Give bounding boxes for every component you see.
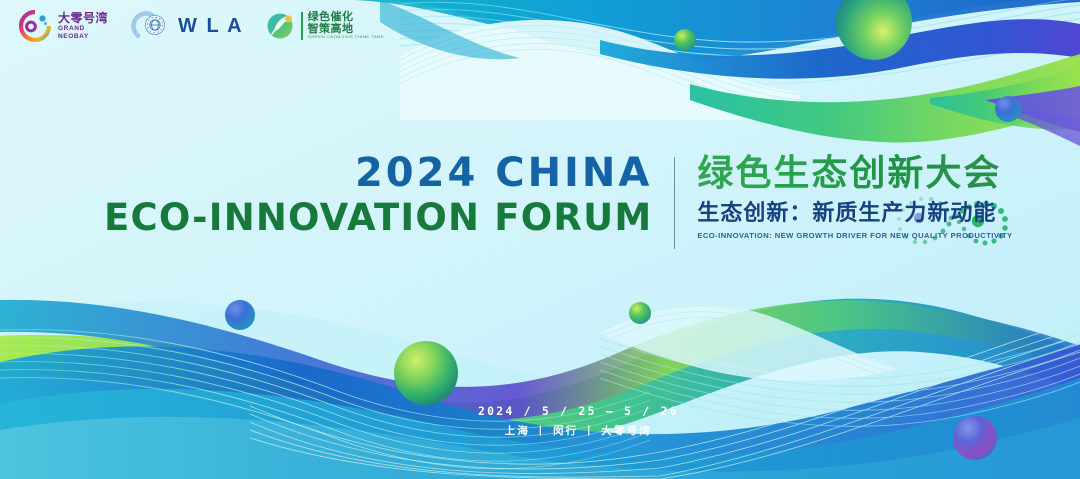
- globe-emblem-icon: [130, 8, 170, 44]
- title-block: 2024 CHINA ECO-INNOVATION FORUM 绿色生态创新大会…: [104, 152, 1013, 249]
- event-date: 2024 / 5 / 25 — 5 / 26: [478, 404, 679, 418]
- logo-grand-neobay-en2: NEOBAY: [58, 34, 108, 41]
- sphere-right-blue: [995, 96, 1021, 122]
- sphere-center-green: [394, 341, 458, 405]
- logo-grand-neobay-cn: 大零号湾: [58, 12, 108, 24]
- swirl-circle-icon: [18, 9, 52, 43]
- title-english-group: 2024 CHINA ECO-INNOVATION FORUM: [104, 152, 674, 239]
- sphere-left-blue: [225, 300, 255, 330]
- title-chinese-sub: 生态创新：新质生产力新动能: [697, 200, 1012, 226]
- title-english-line1: 2024 CHINA: [104, 152, 652, 195]
- green-leaf-globe-icon: [266, 10, 296, 42]
- logo-grand-neobay[interactable]: 大零号湾 GRAND NEOBAY: [18, 9, 108, 43]
- title-chinese-group: 绿色生态创新大会 生态创新：新质生产力新动能 ECO-INNOVATION: N…: [675, 152, 1012, 240]
- event-place: 上海 丨 闵行 丨 大零号湾: [478, 423, 679, 438]
- event-info-block: 2024 / 5 / 25 — 5 / 26 上海 丨 闵行 丨 大零号湾: [478, 404, 679, 438]
- logo-grand-neobay-en1: GRAND: [58, 26, 108, 33]
- title-english-line2: ECO-INNOVATION FORUM: [104, 197, 652, 238]
- logo-grand-neobay-text: 大零号湾 GRAND NEOBAY: [58, 12, 108, 41]
- sphere-small-green-right: [629, 302, 651, 324]
- logo-wla-acronym: W L A: [178, 15, 244, 38]
- logo-green-catalysis-text: 绿色催化 智策高地 GREEN CATALYSIS THINK TANK: [301, 12, 384, 40]
- title-chinese-main: 绿色生态创新大会: [697, 152, 1012, 193]
- sphere-mid-small-green: [674, 29, 696, 51]
- logo-green-catalysis-line3: GREEN CATALYSIS THINK TANK: [308, 35, 384, 39]
- title-english-sub: ECO-INNOVATION: NEW GROWTH DRIVER FOR NE…: [697, 231, 1012, 240]
- partner-logo-bar: 大零号湾 GRAND NEOBAY W L A: [18, 8, 384, 44]
- logo-green-catalysis-line1: 绿色催化: [308, 12, 384, 24]
- logo-wla[interactable]: W L A: [130, 8, 244, 44]
- sphere-bottom-purple: [953, 416, 997, 460]
- title-divider: [674, 157, 675, 249]
- conference-banner: 大零号湾 GRAND NEOBAY W L A: [0, 0, 1080, 479]
- logo-green-catalysis[interactable]: 绿色催化 智策高地 GREEN CATALYSIS THINK TANK: [266, 10, 384, 42]
